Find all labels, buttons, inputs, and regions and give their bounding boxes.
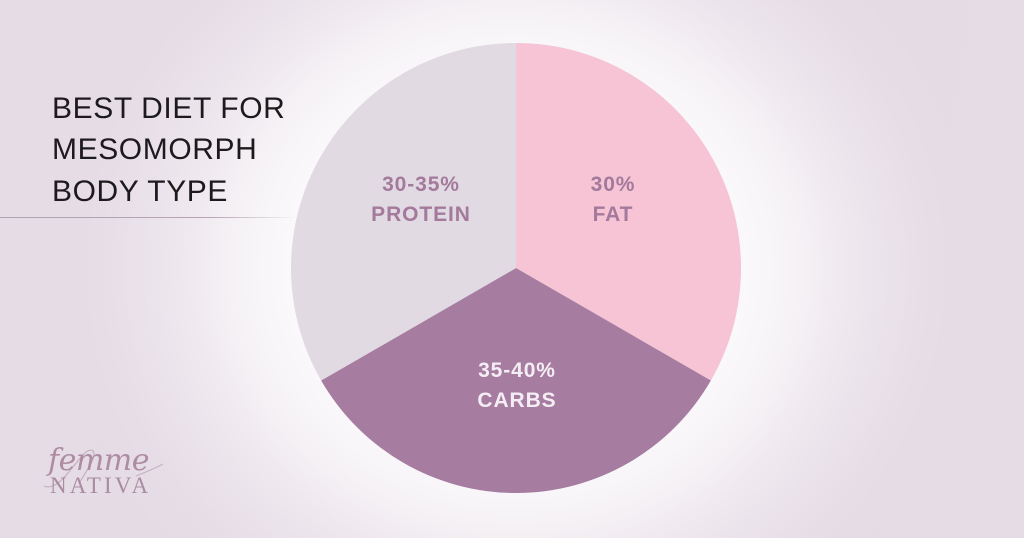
brand-logo: femme NATIVA (36, 446, 166, 502)
logo-word-text: NATIVA (50, 474, 151, 497)
logo-script-text: femme (48, 446, 149, 476)
title-divider-rule (0, 217, 296, 218)
infographic-canvas: BEST DIET FOR MESOMORPH BODY TYPE 30-35%… (0, 0, 1024, 538)
pie-chart (291, 43, 741, 493)
